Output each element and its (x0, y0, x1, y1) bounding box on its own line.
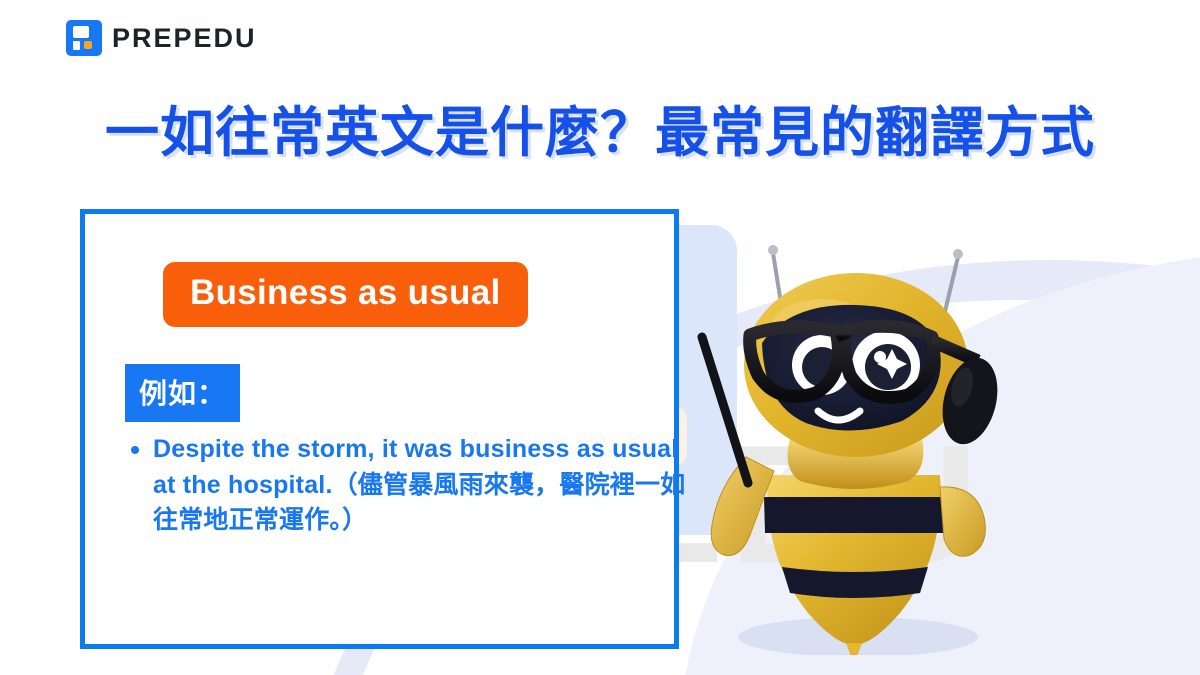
bee-mascot-icon (640, 225, 1060, 655)
list-item: Despite the storm, it was business as us… (153, 432, 693, 539)
example-label: 例如： (125, 364, 240, 422)
example-list: Despite the storm, it was business as us… (121, 432, 693, 539)
brand-logo[interactable]: PREPEDU (66, 20, 257, 56)
content-card: Business as usual 例如： Despite the storm,… (80, 209, 679, 649)
prepedu-bee-mascot (640, 225, 1060, 655)
slide-canvas: PREPEDU PREPEDU 一如往常英文是什麼？最常見的翻譯方式 Busin… (0, 0, 1200, 675)
brand-logo-text: PREPEDU (112, 23, 257, 54)
prepedu-p-mark-icon (66, 20, 102, 56)
page-title: 一如往常英文是什麼？最常見的翻譯方式 (0, 88, 1200, 167)
phrase-badge: Business as usual (163, 262, 528, 327)
